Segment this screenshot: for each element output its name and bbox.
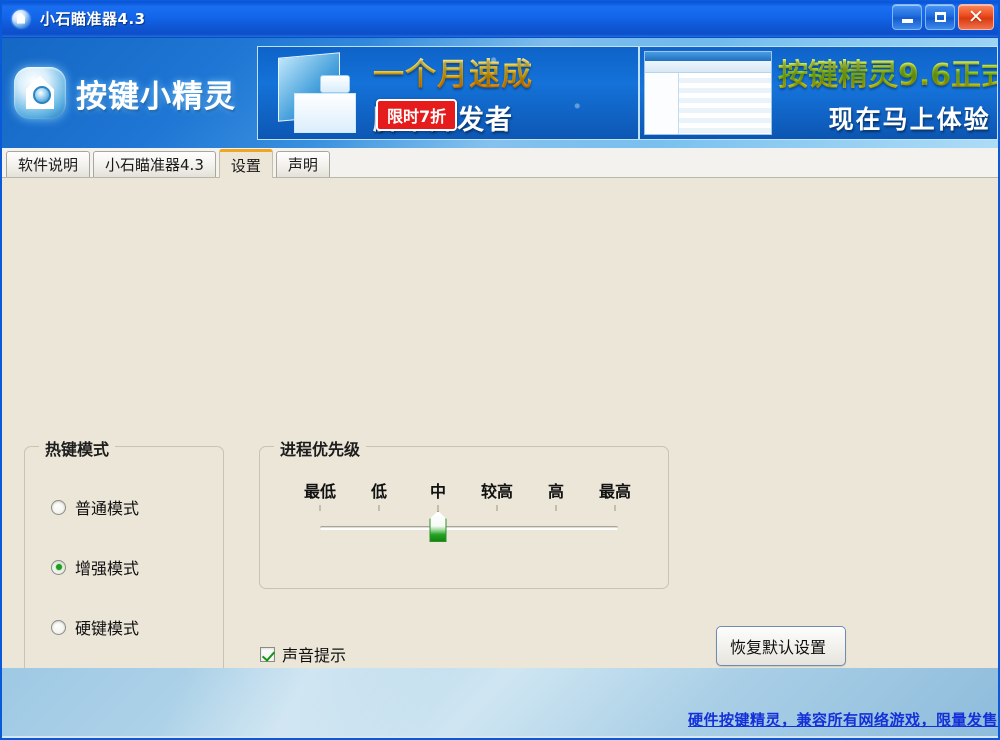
minimize-button[interactable] bbox=[892, 4, 922, 30]
maximize-icon bbox=[935, 12, 946, 22]
slider-label-higher: 较高 bbox=[481, 478, 513, 502]
application-window: 小石瞄准器4.3 ✕ 按键小精灵 一个月速成 脚本开发者 限时7折 bbox=[0, 0, 1000, 740]
priority-slider[interactable]: 最低 低 中 较高 高 最高 bbox=[292, 478, 642, 568]
promo-banner-1[interactable]: 一个月速成 脚本开发者 限时7折 bbox=[257, 46, 639, 140]
promo-banner-2[interactable]: 按键精灵9.6正式版 现在马上体验 bbox=[639, 46, 998, 140]
software-screenshot-image bbox=[644, 51, 772, 135]
slider-label-highest: 最高 bbox=[599, 478, 631, 502]
slider-thumb[interactable] bbox=[430, 511, 447, 542]
radio-label: 硬键模式 bbox=[75, 615, 139, 639]
maximize-button[interactable] bbox=[925, 4, 955, 30]
radio-normal-mode[interactable]: 普通模式 bbox=[51, 495, 139, 519]
slider-label-low: 低 bbox=[371, 478, 387, 502]
restore-defaults-button[interactable]: 恢复默认设置 bbox=[716, 626, 846, 666]
radio-circle-icon bbox=[51, 500, 66, 515]
banner-2-text: 按键精灵9.6正式版 现在马上体验 bbox=[778, 50, 998, 136]
checkbox-checked-icon bbox=[260, 647, 275, 662]
slider-label-lowest: 最低 bbox=[304, 478, 336, 502]
footer-promo-link[interactable]: 硬件按键精灵，兼容所有网络游戏，限量发售 bbox=[688, 709, 998, 730]
tab-settings[interactable]: 设置 bbox=[219, 149, 273, 178]
tab-statement[interactable]: 声明 bbox=[276, 151, 330, 177]
close-icon: ✕ bbox=[968, 10, 984, 24]
slider-tick bbox=[438, 505, 439, 511]
banner-2-headline: 按键精灵9.6正式版 bbox=[778, 50, 998, 94]
banner-1-headline: 一个月速成 bbox=[373, 49, 533, 94]
checkbox-label: 声音提示 bbox=[282, 642, 346, 666]
radio-hardkey-mode[interactable]: 硬键模式 bbox=[51, 615, 139, 639]
tab-software-info[interactable]: 软件说明 bbox=[6, 151, 90, 177]
checkbox-sound-alert[interactable]: 声音提示 bbox=[260, 642, 346, 666]
radio-label: 普通模式 bbox=[75, 495, 139, 519]
window-controls: ✕ bbox=[892, 4, 994, 30]
house-logo-icon bbox=[14, 67, 66, 119]
minimize-icon bbox=[902, 19, 913, 23]
slider-tick bbox=[615, 505, 616, 511]
close-button[interactable]: ✕ bbox=[958, 4, 994, 30]
banner-2-subline: 现在马上体验 bbox=[778, 100, 998, 136]
window-title: 小石瞄准器4.3 bbox=[40, 8, 146, 29]
slider-tick bbox=[379, 505, 380, 511]
slider-label-medium: 中 bbox=[430, 478, 446, 502]
shield-icon bbox=[10, 8, 32, 30]
slider-tick bbox=[497, 505, 498, 511]
slider-tick bbox=[320, 505, 321, 511]
radio-label: 增强模式 bbox=[75, 555, 139, 579]
radio-circle-selected-icon bbox=[51, 560, 66, 575]
tab-aimer[interactable]: 小石瞄准器4.3 bbox=[93, 151, 216, 177]
radio-circle-icon bbox=[51, 620, 66, 635]
settings-panel: 热键模式 普通模式 增强模式 硬键模式 软件模式 进程优先级 最低 bbox=[2, 178, 998, 668]
slider-track[interactable] bbox=[320, 526, 618, 530]
slider-tick bbox=[556, 505, 557, 511]
radio-enhanced-mode[interactable]: 增强模式 bbox=[51, 555, 139, 579]
product-box-image bbox=[264, 49, 369, 137]
hotkey-mode-title: 热键模式 bbox=[39, 436, 115, 460]
banner-1-discount-badge: 限时7折 bbox=[376, 99, 457, 131]
footer-bar: 硬件按键精灵，兼容所有网络游戏，限量发售 bbox=[2, 668, 998, 736]
tab-strip: 软件说明 小石瞄准器4.3 设置 声明 bbox=[2, 148, 998, 178]
brand-area: 按键小精灵 bbox=[2, 38, 257, 148]
header-banner-area: 按键小精灵 一个月速成 脚本开发者 限时7折 按键精灵9.6正式版 bbox=[2, 38, 998, 148]
process-priority-title: 进程优先级 bbox=[274, 436, 366, 460]
brand-name: 按键小精灵 bbox=[76, 71, 236, 116]
title-bar: 小石瞄准器4.3 ✕ bbox=[2, 0, 998, 38]
slider-label-high: 高 bbox=[548, 478, 564, 502]
